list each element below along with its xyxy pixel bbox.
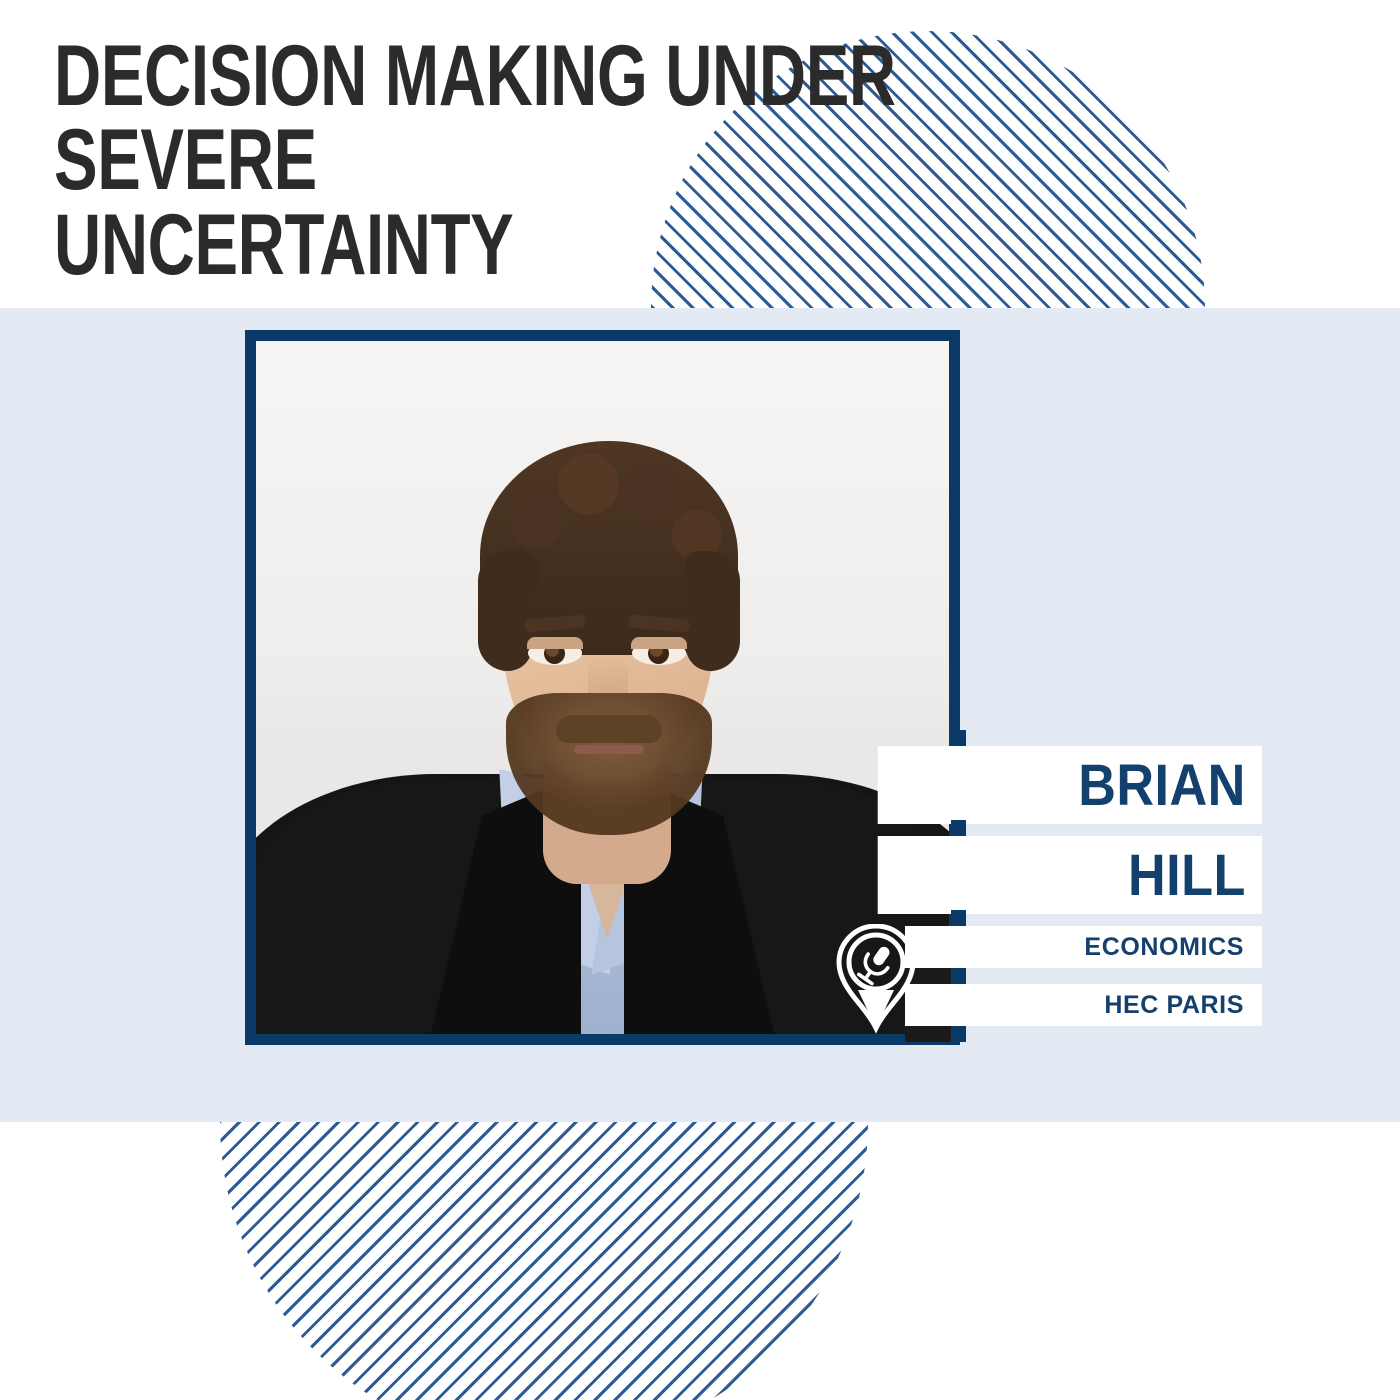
bar-marker-square-5 [951,1026,966,1042]
microphone-location-pin-icon [834,924,918,1034]
bar-marker-square-3 [951,910,966,926]
speaker-organization: HEC PARIS [905,984,1262,1026]
speaker-announcement-card: DECISION MAKING UNDER SEVERE UNCERTAINTY [0,0,1400,1400]
bar-marker-square-2 [951,820,966,836]
page-title: DECISION MAKING UNDER SEVERE UNCERTAINTY [54,34,996,287]
bar-marker-square-1 [951,730,966,746]
bar-marker-square-4 [951,968,966,984]
speaker-department: ECONOMICS [905,926,1262,968]
speaker-last-name: HILL [878,836,1262,914]
speaker-first-name: BRIAN [878,746,1262,824]
